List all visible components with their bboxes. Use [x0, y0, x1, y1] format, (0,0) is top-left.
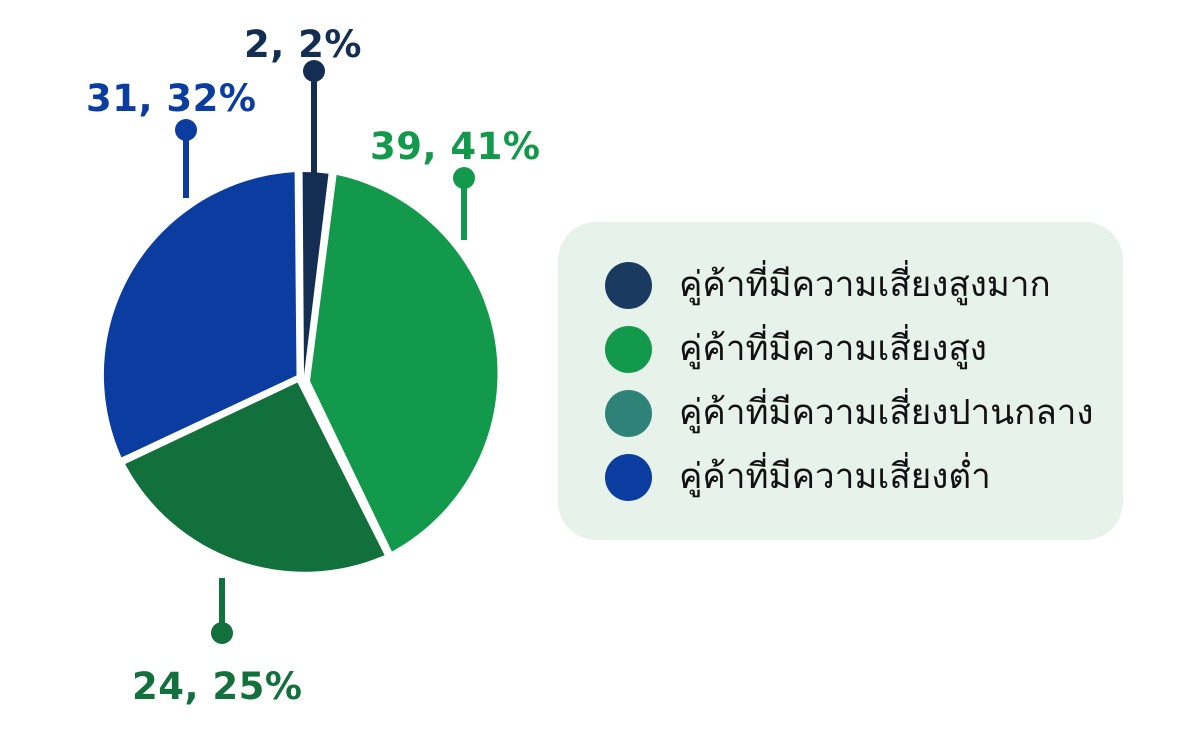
data-label-low-risk: 31, 32% — [86, 80, 257, 117]
legend-swatch-icon — [605, 262, 652, 309]
legend-item-label: คู่ค้าที่มีความเสี่ยงสูงมาก — [679, 267, 1051, 304]
legend-item-low-risk[interactable]: คู่ค้าที่มีความเสี่ยงต่ำ — [582, 445, 1099, 509]
data-label-high-risk: 39, 41% — [370, 128, 541, 165]
legend-swatch-icon — [605, 326, 652, 373]
legend-item-medium-risk[interactable]: คู่ค้าที่มีความเสี่ยงปานกลาง — [582, 381, 1099, 445]
legend-item-label: คู่ค้าที่มีความเสี่ยงปานกลาง — [679, 395, 1094, 432]
legend-item-label: คู่ค้าที่มีความเสี่ยงต่ำ — [679, 459, 991, 496]
legend-item-very-high-risk[interactable]: คู่ค้าที่มีความเสี่ยงสูงมาก — [582, 253, 1099, 317]
leader-pin-low-risk — [175, 119, 197, 198]
legend-item-label: คู่ค้าที่มีความเสี่ยงสูง — [679, 331, 987, 368]
legend-item-high-risk[interactable]: คู่ค้าที่มีความเสี่ยงสูง — [582, 317, 1099, 381]
leader-pin-medium-risk — [211, 578, 233, 644]
legend-swatch-icon — [605, 390, 652, 437]
data-label-very-high-risk: 2, 2% — [244, 26, 362, 63]
legend-swatch-icon — [605, 454, 652, 501]
data-label-medium-risk: 24, 25% — [132, 668, 303, 705]
pie-chart-area: 2, 2% 31, 32% 39, 41% 24, 25% — [0, 0, 560, 738]
chart-legend: คู่ค้าที่มีความเสี่ยงสูงมาก คู่ค้าที่มีค… — [558, 222, 1123, 540]
chart-page: 2, 2% 31, 32% 39, 41% 24, 25% คู่ค้าที่ม… — [0, 0, 1200, 738]
leader-pin-very-high-risk — [303, 60, 325, 182]
leader-pin-high-risk — [453, 167, 475, 240]
pie-chart-svg — [0, 0, 560, 738]
